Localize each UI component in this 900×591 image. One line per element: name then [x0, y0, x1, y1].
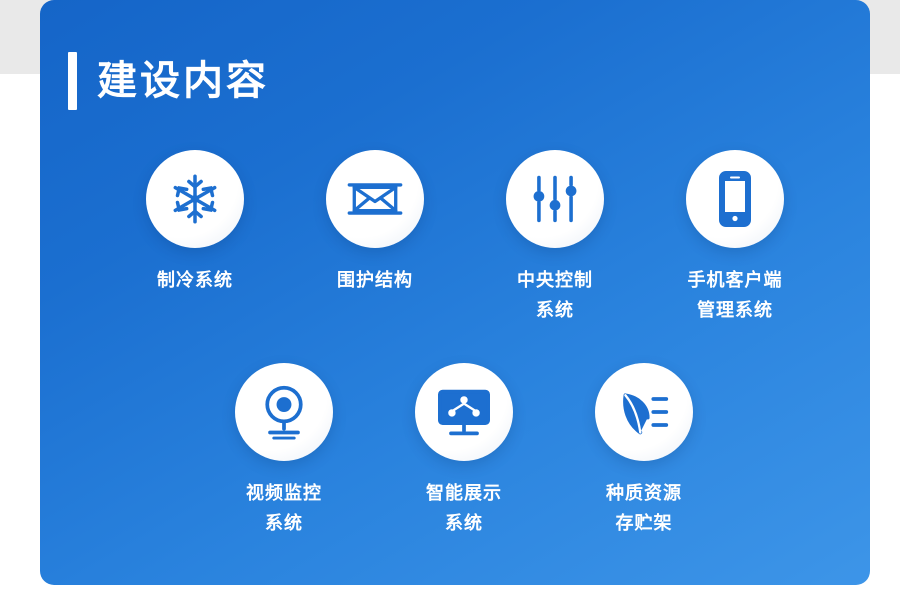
item-label-line1: 视频监控: [246, 479, 322, 509]
title-accent-bar: [68, 52, 77, 110]
item-label: 手机客户端 管理系统: [688, 266, 783, 325]
item-label: 视频监控 系统: [246, 479, 322, 538]
item-label-line1: 种质资源: [606, 479, 682, 509]
item-refrigeration-system[interactable]: 制冷系统: [105, 150, 285, 325]
sliders-icon: [530, 172, 580, 226]
icon-bubble: [326, 150, 424, 248]
item-label: 中央控制 系统: [517, 266, 593, 325]
item-envelope-structure[interactable]: 围护结构: [285, 150, 465, 325]
mobile-phone-icon: [715, 170, 755, 228]
envelope-icon: [346, 174, 404, 224]
item-mobile-client-management-system[interactable]: 手机客户端 管理系统: [645, 150, 825, 325]
icon-bubble: [595, 363, 693, 461]
icon-bubble: [235, 363, 333, 461]
title-label: 建设内容: [97, 61, 269, 101]
item-label-line2: 系统: [246, 509, 322, 539]
seedling-list-icon: [616, 386, 672, 438]
item-label-line1: 制冷系统: [157, 266, 233, 296]
item-label: 围护结构: [337, 266, 413, 296]
item-label-line1: 手机客户端: [688, 266, 783, 296]
content-card: 建设内容: [40, 0, 870, 585]
item-label-line2: 存贮架: [606, 509, 682, 539]
item-video-surveillance-system[interactable]: 视频监控 系统: [194, 363, 374, 538]
item-label-line2: 系统: [517, 296, 593, 326]
items-row-1: 制冷系统: [40, 150, 870, 325]
items-row-2: 视频监控 系统: [40, 363, 870, 538]
item-label-line2: 系统: [426, 509, 502, 539]
monitor-chart-icon: [436, 386, 492, 438]
snowflake-icon: [167, 171, 223, 227]
icon-bubble: [506, 150, 604, 248]
icon-bubble: [415, 363, 513, 461]
item-central-control-system[interactable]: 中央控制 系统: [465, 150, 645, 325]
item-label: 制冷系统: [157, 266, 233, 296]
item-label-line1: 中央控制: [517, 266, 593, 296]
item-label: 种质资源 存贮架: [606, 479, 682, 538]
items-grid: 制冷系统: [40, 150, 870, 539]
item-label-line1: 围护结构: [337, 266, 413, 296]
page-title: 建设内容: [68, 52, 269, 110]
icon-bubble: [686, 150, 784, 248]
item-intelligent-display-system[interactable]: 智能展示 系统: [374, 363, 554, 538]
item-label-line2: 管理系统: [688, 296, 783, 326]
item-label-line1: 智能展示: [426, 479, 502, 509]
item-germplasm-resource-storage-rack[interactable]: 种质资源 存贮架: [554, 363, 734, 538]
slide-canvas: 建设内容: [0, 0, 900, 591]
cctv-camera-icon: [257, 384, 311, 440]
icon-bubble: [146, 150, 244, 248]
item-label: 智能展示 系统: [426, 479, 502, 538]
